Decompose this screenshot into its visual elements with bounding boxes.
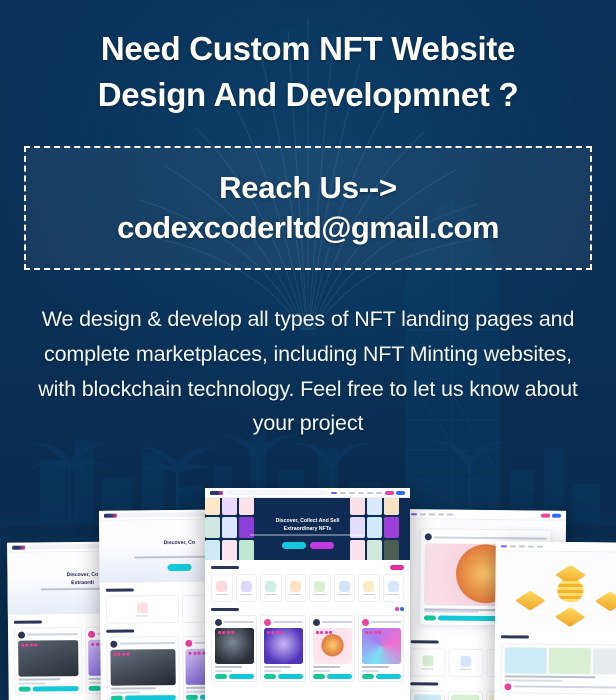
nft-artwork: [362, 628, 401, 664]
nft-artwork: [264, 628, 303, 664]
carousel-arrows[interactable]: [395, 607, 405, 611]
nft-card[interactable]: [14, 627, 82, 695]
create-item-button[interactable]: [310, 542, 334, 549]
hero-cta-buttons[interactable]: [205, 542, 410, 549]
auction-card-row: [211, 615, 404, 682]
contact-callout-box[interactable]: Reach Us--> codexcoderltd@gmail.com: [24, 146, 592, 270]
nav-action-buttons[interactable]: [541, 513, 561, 517]
hero-subtitle: [250, 534, 365, 536]
nav-menu[interactable]: [411, 513, 453, 515]
explore-now-button[interactable]: [282, 542, 306, 549]
live-auctions-title: [211, 608, 239, 611]
blockchain-illustration: [495, 551, 616, 631]
nft-card[interactable]: [309, 615, 355, 682]
mockup-navbar: [205, 488, 410, 498]
reach-us-label: Reach Us-->: [219, 169, 397, 207]
nft-card[interactable]: [410, 690, 445, 700]
category-item[interactable]: [309, 574, 331, 602]
nav-menu[interactable]: [501, 545, 543, 547]
browse-by-category-section: [205, 560, 410, 602]
category-item[interactable]: [106, 595, 179, 624]
category-item[interactable]: [260, 574, 282, 602]
nft-card[interactable]: [448, 691, 483, 700]
description-paragraph: We design & develop all types of NFT lan…: [24, 302, 592, 441]
section-title: [14, 620, 42, 623]
nft-card[interactable]: [500, 643, 616, 694]
nav-menu[interactable]: [331, 492, 382, 494]
hero-title: Discover, Collect And SellExtraordinary …: [205, 518, 410, 534]
headline-line-1: Need Custom NFT Website: [101, 30, 515, 67]
category-item[interactable]: [448, 649, 483, 677]
mockup-hero: Discover, Collect And SellExtraordinary …: [205, 498, 410, 560]
honeycomb-icon: [557, 578, 583, 602]
promo-banner: Need Custom NFT Website Design And Devel…: [0, 0, 616, 700]
category-item[interactable]: [236, 574, 258, 602]
nft-artwork: [215, 628, 254, 664]
see-more-button[interactable]: [390, 565, 404, 570]
mockup-far-right[interactable]: [494, 541, 616, 700]
nft-card[interactable]: [106, 636, 179, 700]
category-item[interactable]: [285, 574, 307, 602]
category-row: [211, 574, 404, 602]
brand-logo-icon: [210, 491, 223, 495]
mockup-center[interactable]: Discover, Collect And SellExtraordinary …: [205, 488, 410, 700]
category-item[interactable]: [358, 574, 380, 602]
nft-artwork: [313, 628, 352, 664]
category-item[interactable]: [383, 574, 405, 602]
brand-logo-icon: [12, 545, 25, 549]
category-item[interactable]: [211, 574, 233, 602]
mockup-collage: Discover, CoExtraordi: [0, 470, 616, 700]
nft-card[interactable]: [260, 615, 306, 682]
brand-logo-icon: [104, 513, 117, 517]
nav-action-buttons[interactable]: [385, 491, 405, 495]
category-item[interactable]: [334, 574, 356, 602]
browse-by-category-title: [211, 566, 239, 569]
search-input[interactable]: [226, 490, 328, 495]
search-input[interactable]: [120, 512, 218, 518]
category-item[interactable]: [410, 648, 445, 676]
nft-card[interactable]: [358, 615, 404, 682]
page-title: Need Custom NFT Website Design And Devel…: [0, 26, 616, 118]
contact-email[interactable]: codexcoderltd@gmail.com: [117, 209, 499, 247]
live-auctions-section: [205, 602, 410, 682]
collection-section: [494, 629, 616, 695]
nft-card[interactable]: [211, 615, 257, 682]
headline-line-2: Design And Developmnet ?: [0, 72, 616, 118]
